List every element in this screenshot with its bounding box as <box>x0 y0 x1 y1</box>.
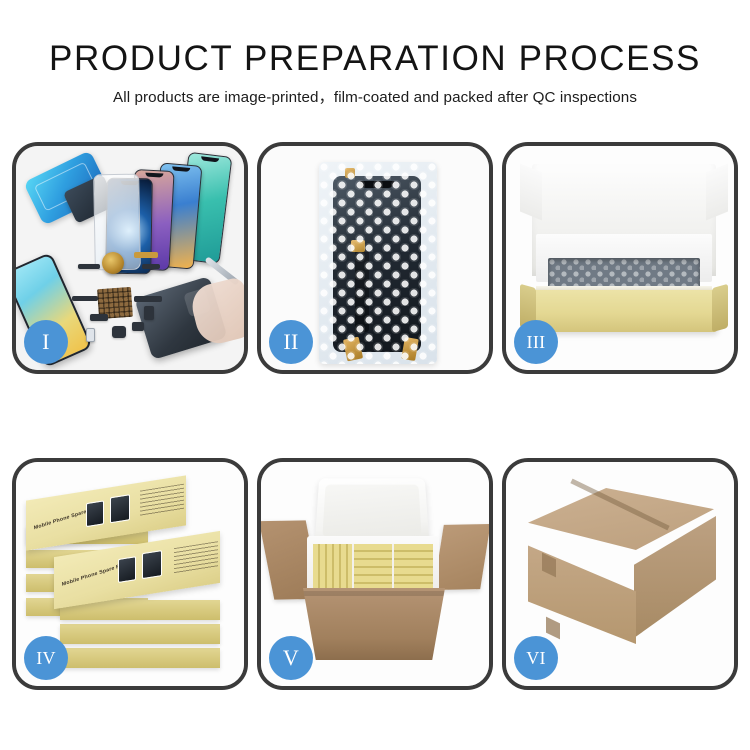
carton-front-face <box>528 532 636 644</box>
stacked-box <box>60 648 220 668</box>
flex-cable-part <box>72 296 98 301</box>
step-badge-2: II <box>269 320 313 364</box>
product-preparation-infographic: PRODUCT PREPARATION PROCESS All products… <box>0 0 750 750</box>
carton-tape-lower <box>546 617 560 640</box>
box-side <box>60 624 220 644</box>
speaker-coil-part <box>102 252 124 274</box>
small-part <box>86 328 95 342</box>
bubble-film-texture <box>319 162 437 364</box>
notch-icon <box>172 166 190 172</box>
page-title: PRODUCT PREPARATION PROCESS <box>0 38 750 80</box>
carton-flap-right <box>433 524 489 590</box>
yellow-box-body <box>530 290 718 332</box>
bubble-bag <box>319 162 437 364</box>
box-product-image <box>110 494 130 523</box>
process-steps-grid: I II <box>12 142 738 690</box>
small-part <box>112 326 126 338</box>
small-part <box>144 306 154 320</box>
step-badge-4: IV <box>24 636 68 680</box>
flex-cable-part <box>142 264 160 269</box>
notch-icon <box>201 156 219 162</box>
step-badge-1: I <box>24 320 68 364</box>
header: PRODUCT PREPARATION PROCESS All products… <box>0 38 750 108</box>
box-side <box>60 648 220 668</box>
notch-icon <box>145 173 163 178</box>
page-subtitle: All products are image-printed，film-coat… <box>0 88 750 108</box>
box-product-image <box>86 500 104 527</box>
step-panel-1[interactable]: I <box>12 142 248 374</box>
flex-cable-part <box>134 252 158 258</box>
small-part <box>90 314 108 321</box>
step-badge-5: V <box>269 636 313 680</box>
step-badge-6: VI <box>514 636 558 680</box>
small-part <box>132 322 144 331</box>
step-panel-2[interactable]: II <box>257 142 493 374</box>
step-badge-3: III <box>514 320 558 364</box>
box-product-image <box>142 550 162 579</box>
flex-cable-part <box>134 296 162 302</box>
step-panel-6[interactable]: VI <box>502 458 738 690</box>
carton-body <box>303 588 445 660</box>
box-spec-text-block <box>174 541 218 574</box>
step-panel-3[interactable]: III <box>502 142 738 374</box>
box-product-image <box>118 556 136 583</box>
small-part <box>78 264 100 269</box>
box-spec-text-block <box>140 484 184 517</box>
step-panel-4[interactable]: Mobile Phone Spare Parts Mobile Phone Sp… <box>12 458 248 690</box>
step-panel-5[interactable]: V <box>257 458 493 690</box>
foam-lid <box>315 478 430 544</box>
stacked-box <box>60 624 220 644</box>
